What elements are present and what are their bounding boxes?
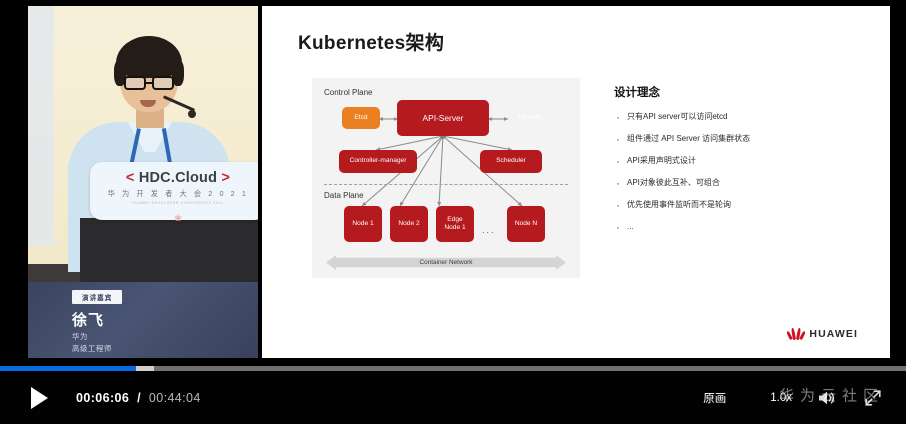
quality-selector[interactable]: 原画 — [703, 390, 726, 406]
diagram-box-api-server: API-Server — [397, 100, 489, 136]
control-row: 00:06:06 / 00:44:04 原画 1.0x — [0, 371, 906, 424]
design-principles-section: 设计理念 只有API server可以访问etcd 组件通过 API Serve… — [614, 84, 864, 245]
background-wall — [28, 6, 54, 246]
diagram-ellipsis: ... — [482, 225, 496, 235]
kubernetes-architecture-diagram: Control Plane Data Plane — [312, 78, 580, 278]
third-auth-label: 3rd Auth — [517, 114, 542, 122]
design-principles-heading: 设计理念 — [614, 84, 864, 100]
diagram-box-node-1: Node 1 — [344, 206, 382, 242]
diagram-box-3rd-auth: 3rd Auth — [507, 107, 551, 129]
node-1-label: Node 1 — [352, 220, 373, 228]
edge-node-1-label: Edge Node 1 — [444, 216, 465, 232]
list-item: API对象彼此互补、可组合 — [614, 178, 864, 188]
speaker-title: 高级工程师 — [72, 343, 258, 354]
container-network-label: Container Network — [420, 259, 473, 266]
speaker-role-badge: 演讲嘉宾 — [72, 290, 122, 304]
diagram-box-edge-node-1: Edge Node 1 — [436, 206, 474, 242]
design-principles-list: 只有API server可以访问etcd 组件通过 API Server 访问集… — [614, 112, 864, 232]
time-separator: / — [137, 391, 141, 405]
diagram-box-node-n: Node N — [507, 206, 545, 242]
list-item: 只有API server可以访问etcd — [614, 112, 864, 122]
huawei-wordmark: HUAWEI — [809, 328, 858, 340]
microphone-head-icon — [188, 110, 196, 118]
player-control-bar: 00:06:06 / 00:44:04 原画 1.0x — [0, 366, 906, 424]
podium-brand: < HDC.Cloud > — [90, 170, 258, 186]
speaker-camera-panel: < HDC.Cloud > 华 为 开 发 者 大 会 2 0 2 1 HUAW… — [28, 6, 258, 358]
play-icon — [31, 387, 48, 409]
scheduler-label: Scheduler — [496, 157, 526, 165]
current-time: 00:06:06 — [76, 391, 129, 405]
volume-icon — [816, 388, 836, 408]
diagram-box-scheduler: Scheduler — [480, 150, 542, 173]
total-duration: 00:44:04 — [149, 391, 201, 405]
huawei-flower-icon: ❀ — [174, 213, 182, 224]
video-stage[interactable]: < HDC.Cloud > 华 为 开 发 者 大 会 2 0 2 1 HUAW… — [0, 0, 906, 366]
time-display: 00:06:06 / 00:44:04 — [76, 391, 201, 405]
fullscreen-button[interactable] — [864, 389, 882, 407]
playback-speed-selector[interactable]: 1.0x — [770, 392, 792, 404]
list-item: 组件通过 API Server 访问集群状态 — [614, 134, 864, 144]
play-button[interactable] — [24, 383, 54, 413]
podium-microtext: HUAWEI DEVELOPER CONFERENCE 2021 — [90, 201, 258, 205]
brand-cloud: Cloud — [175, 170, 217, 186]
speaker-name: 徐飞 — [72, 309, 258, 330]
glasses-right-lens — [152, 76, 174, 90]
list-item: ... — [614, 222, 864, 232]
diagram-box-etcd: Etcd — [342, 107, 380, 129]
podium-base — [80, 218, 258, 282]
brand-hdc: HDC — [139, 170, 171, 186]
plane-divider — [324, 184, 568, 185]
speaker-org: 华为 — [72, 331, 258, 342]
page-title: Kubernetes架构 — [298, 28, 444, 55]
diagram-box-node-2: Node 2 — [390, 206, 428, 242]
volume-button[interactable] — [816, 388, 836, 408]
podium-subtitle: 华 为 开 发 者 大 会 2 0 2 1 — [90, 189, 258, 199]
huawei-flower-icon — [788, 327, 804, 340]
bracket-left: < — [126, 170, 135, 186]
huawei-brand-logo: HUAWEI — [788, 327, 858, 340]
video-player-page: < HDC.Cloud > 华 为 开 发 者 大 会 2 0 2 1 HUAW… — [0, 0, 906, 424]
glasses-bridge — [146, 82, 152, 84]
podium-sign: < HDC.Cloud > 华 为 开 发 者 大 会 2 0 2 1 HUAW… — [90, 162, 258, 220]
glasses-left-lens — [124, 76, 146, 90]
presentation-slide: Kubernetes架构 Control Plane Data Plane — [262, 6, 890, 358]
diagram-box-controller-manager: Controller-manager — [339, 150, 417, 173]
node-n-label: Node N — [515, 220, 537, 228]
fullscreen-icon — [864, 389, 882, 407]
node-2-label: Node 2 — [398, 220, 419, 228]
controller-manager-label: Controller-manager — [350, 157, 407, 165]
etcd-label: Etcd — [354, 114, 367, 122]
list-item: 优先使用事件监听而不是轮询 — [614, 200, 864, 210]
api-server-label: API-Server — [423, 113, 464, 124]
list-item: API采用声明式设计 — [614, 156, 864, 166]
bracket-right: > — [221, 170, 230, 186]
lower-third-banner: 演讲嘉宾 徐飞 华为 高级工程师 — [28, 282, 258, 358]
